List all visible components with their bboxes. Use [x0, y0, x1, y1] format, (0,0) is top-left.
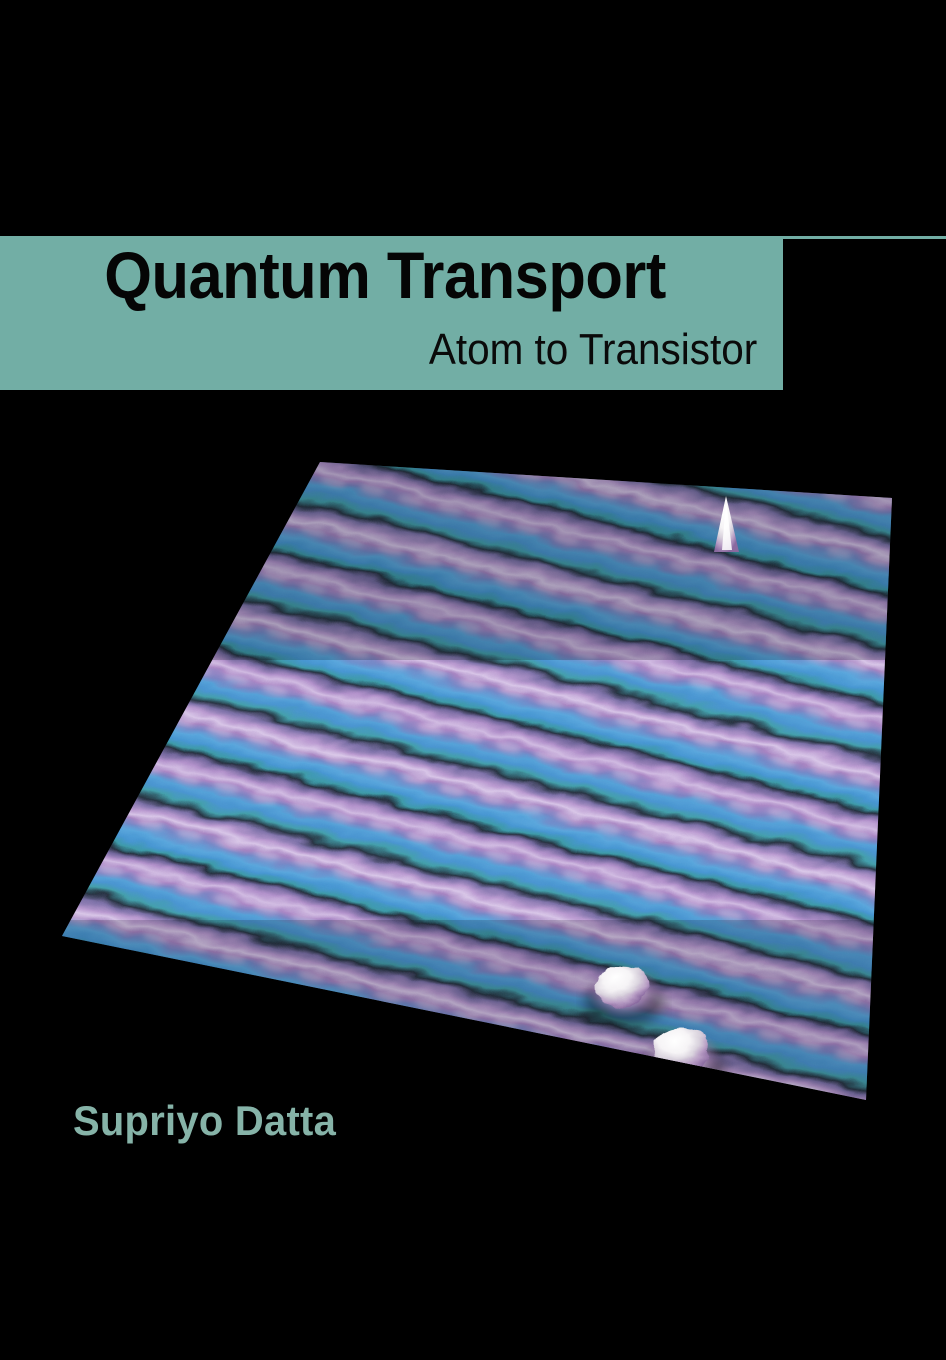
page-title: Quantum Transport: [27, 236, 743, 314]
cover-artwork: [0, 400, 946, 1120]
adatom-bump-small-center: [544, 1098, 560, 1110]
author-name: Supriyo Datta: [73, 1096, 336, 1146]
depth-shading-far: [0, 400, 946, 660]
page-subtitle: Atom to Transistor: [62, 322, 772, 378]
adatom-bump-left-upper: [218, 1031, 282, 1079]
adatom-bump-right-mid: [652, 1028, 710, 1072]
adatom-bump-upper-right: [595, 965, 649, 1007]
stm-surface-illustration: [0, 400, 946, 1120]
depth-shading-near: [0, 920, 946, 1120]
stm-scan-plate: [0, 400, 946, 1120]
adatom-shadow: [206, 1046, 298, 1098]
book-cover: Quantum Transport Atom to Transistor: [0, 0, 946, 1360]
adatom-halo: [541, 1099, 565, 1115]
adatom-halo: [208, 1032, 296, 1092]
